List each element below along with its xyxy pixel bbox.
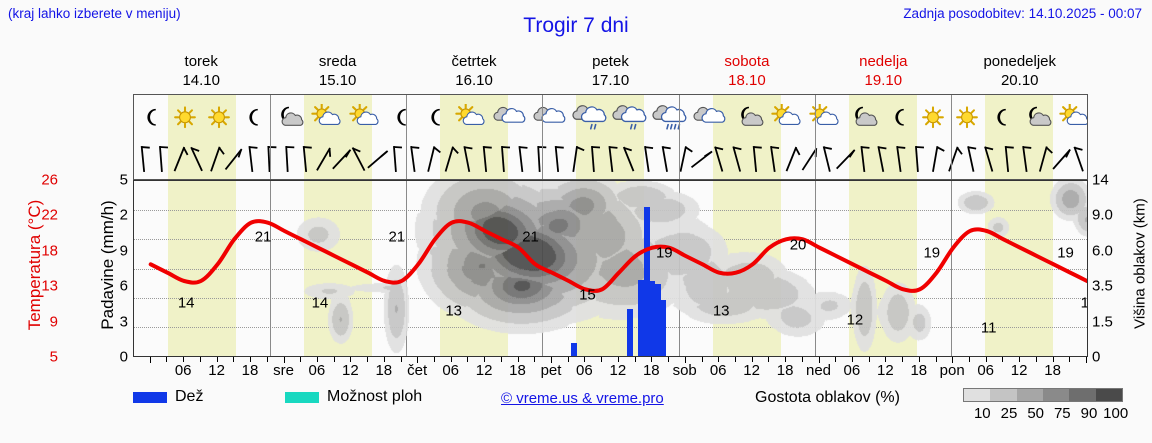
wind-barb-7: [260, 141, 278, 179]
cloud-ramp-step-1: [990, 389, 1016, 401]
temperature-trough-label-6: 11: [981, 320, 997, 337]
day-separator-1: [270, 95, 271, 179]
temperature-tick-5: 5: [22, 349, 58, 366]
x-axis-labels: 061218sre061218čet061218pet061218sob0612…: [133, 362, 1088, 382]
cloud-ramp-tick-5: 100: [1103, 405, 1128, 422]
x-label-7: čet: [407, 362, 427, 379]
wind-barb-13: [368, 141, 386, 179]
cloud-ramp-step-5: [1096, 389, 1122, 401]
rain-swatch: [133, 392, 167, 403]
forecast-plot: 212121192019191414131513121114: [133, 180, 1088, 357]
x-label-0: 06: [175, 362, 192, 379]
x-label-15: sob: [673, 362, 697, 379]
wind-barb-21: [512, 141, 530, 179]
moon-cloud-icon: [730, 96, 768, 142]
cloud_height-tick-3: 3.5: [1092, 278, 1128, 295]
last-update-text: Zadnja posodobitev: 14.10.2025 - 00:07: [903, 6, 1142, 21]
temperature-tick-2: 18: [22, 242, 58, 259]
precipitation-tick-4: 3: [92, 313, 128, 330]
cloud-ramp-tick-2: 50: [1027, 405, 1044, 422]
x-label-24: 06: [977, 362, 994, 379]
cloud-rain-light-icon: [570, 96, 610, 142]
legend-item-rain: Dež: [133, 388, 203, 406]
cloud-density-ramp-ticks: 1025507590100: [953, 405, 1143, 425]
cloud-rain-light-icon: [610, 96, 650, 142]
wind-barb-6: [242, 141, 260, 179]
temperature-trough-label-3: 15: [579, 286, 596, 303]
day-header-petek: petek17.10: [542, 52, 678, 92]
precipitation-tick-5: 0: [92, 349, 128, 366]
cloud-rain-heavy-icon: [650, 96, 690, 142]
day-date: 18.10: [679, 71, 815, 90]
temperature-trough-label-1: 14: [312, 295, 329, 312]
wind-barb-8: [278, 141, 296, 179]
moon-icon: [882, 96, 916, 142]
wind-barb-39: [836, 141, 854, 179]
x-label-16: 06: [710, 362, 727, 379]
day-date: 16.10: [406, 71, 542, 90]
cloud_height-tick-4: 1.5: [1092, 313, 1128, 330]
x-label-17: 12: [743, 362, 760, 379]
day-date: 17.10: [542, 71, 678, 90]
chart-legend: Dež Možnost ploh © vreme.us & vreme.pro …: [133, 386, 1143, 431]
moon-cloud-icon: [270, 96, 308, 142]
cloud-ramp-tick-0: 10: [974, 405, 991, 422]
x-label-13: 12: [610, 362, 627, 379]
legend-label-rain: Dež: [175, 388, 203, 406]
day-header-sreda: sreda15.10: [269, 52, 405, 92]
cloud_height-tick-2: 6.0: [1092, 242, 1128, 259]
day-header-torek: torek14.10: [133, 52, 269, 92]
x-label-9: 12: [476, 362, 493, 379]
cloud-icon: [530, 96, 570, 142]
temperature-peak-label-1: 21: [388, 228, 405, 245]
day-separator-2: [406, 95, 407, 179]
sun-cloud-icon: [768, 96, 806, 142]
cloud-ramp-step-4: [1069, 389, 1095, 401]
x-label-1: 12: [208, 362, 225, 379]
cloud-icon: [490, 96, 530, 142]
x-label-3: sre: [273, 362, 294, 379]
sun-icon: [950, 96, 984, 142]
wind-barb-3: [188, 141, 206, 179]
copyright-link[interactable]: © vreme.us & vreme.pro: [501, 390, 664, 407]
sun-cloud-icon: [806, 96, 844, 142]
sun-icon: [168, 96, 202, 142]
day-header-row: torek14.10sreda15.10četrtek16.10petek17.…: [133, 52, 1088, 92]
cloud_height-tick-1: 9.0: [1092, 207, 1128, 224]
wind-barb-33: [728, 141, 746, 179]
wind-barb-18: [458, 141, 476, 179]
temperature-peak-label-2: 21: [522, 228, 539, 245]
legend-item-showers: Možnost ploh: [285, 388, 422, 406]
cloud-height-axis-title: Višina oblakov (km): [1132, 174, 1149, 354]
sun-icon: [916, 96, 950, 142]
wind-barb-25: [584, 141, 602, 179]
wind-barb-19: [476, 141, 494, 179]
temperature-tick-1: 22: [22, 207, 58, 224]
precipitation-tick-2: 9: [92, 242, 128, 259]
x-label-8: 06: [442, 362, 459, 379]
x-label-22: 18: [910, 362, 927, 379]
temperature-peak-label-5: 19: [923, 245, 940, 262]
precipitation-tick-3: 6: [92, 278, 128, 295]
day-separator-3: [542, 95, 543, 179]
weather-symbol-panel: [133, 94, 1088, 180]
wind-barb-0: [134, 141, 152, 179]
wind-barb-22: [530, 141, 548, 179]
moon-icon: [134, 96, 168, 142]
sun-cloud-icon: [1056, 96, 1088, 142]
cloud-ramp-tick-1: 25: [1001, 405, 1018, 422]
cloud-ramp-tick-4: 90: [1081, 405, 1098, 422]
temperature-tick-3: 13: [22, 278, 58, 295]
wind-barb-35: [764, 141, 782, 179]
wind-barb-20: [494, 141, 512, 179]
cloud-ramp-tick-3: 75: [1054, 405, 1071, 422]
x-label-23: pon: [940, 362, 965, 379]
temperature-trough-label-5: 12: [847, 311, 864, 328]
temperature-value-labels: 212121192019191414131513121114: [134, 181, 1087, 356]
day-date: 20.10: [952, 71, 1088, 90]
sun-cloud-icon: [346, 96, 384, 142]
sun-icon: [202, 96, 236, 142]
wind-barb-44: [926, 141, 944, 179]
temperature-peak-label-0: 21: [255, 228, 272, 245]
wind-barb-row: [134, 141, 1087, 179]
day-separator-5: [815, 95, 816, 179]
day-name: nedelja: [815, 52, 951, 71]
x-label-5: 12: [342, 362, 359, 379]
x-label-11: pet: [541, 362, 562, 379]
moon-icon: [418, 96, 452, 142]
cloud-ramp-step-0: [964, 389, 990, 401]
x-label-20: 06: [844, 362, 861, 379]
day-name: četrtek: [406, 52, 542, 71]
x-label-4: 06: [309, 362, 326, 379]
cloud-ramp-step-3: [1043, 389, 1069, 401]
day-name: sreda: [269, 52, 405, 71]
legend-label-showers: Možnost ploh: [327, 388, 422, 406]
x-label-19: ned: [806, 362, 831, 379]
temperature-peak-label-6: 19: [1057, 245, 1074, 262]
day-header-ponedeljek: ponedeljek20.10: [952, 52, 1088, 92]
moon-icon: [984, 96, 1018, 142]
day-separator-6: [951, 95, 952, 179]
precipitation-tick-1: 2: [92, 207, 128, 224]
weather-icon-row: [134, 96, 1087, 142]
x-label-21: 12: [877, 362, 894, 379]
x-label-14: 18: [643, 362, 660, 379]
cloud_height-tick-5: 0: [1092, 349, 1128, 366]
day-date: 15.10: [269, 71, 405, 90]
precipitation-tick-0: 5: [92, 172, 128, 189]
x-label-18: 18: [777, 362, 794, 379]
moon-cloud-icon: [1018, 96, 1056, 142]
temperature-peak-label-3: 19: [656, 245, 673, 262]
moon-cloud-icon: [844, 96, 882, 142]
temperature-trough-label-2: 13: [445, 303, 462, 320]
day-separator-4: [679, 95, 680, 179]
x-label-26: 18: [1044, 362, 1061, 379]
temperature-tick-4: 9: [22, 313, 58, 330]
cloud-ramp-step-2: [1017, 389, 1043, 401]
wind-barb-42: [890, 141, 908, 179]
sun-cloud-icon: [452, 96, 490, 142]
cloud-icon: [690, 96, 730, 142]
day-date: 19.10: [815, 71, 951, 90]
showers-swatch: [285, 392, 319, 403]
x-label-6: 18: [375, 362, 392, 379]
day-name: petek: [542, 52, 678, 71]
temperature-tick-0: 26: [22, 172, 58, 189]
x-label-25: 12: [1011, 362, 1028, 379]
temperature-trough-label-4: 13: [713, 303, 730, 320]
day-name: ponedeljek: [952, 52, 1088, 71]
day-header-sobota: sobota18.10: [679, 52, 815, 92]
x-label-12: 06: [576, 362, 593, 379]
temperature-peak-label-4: 20: [790, 237, 807, 254]
day-date: 14.10: [133, 71, 269, 90]
cloud-density-ramp: [963, 388, 1123, 402]
wind-barb-1: [152, 141, 170, 179]
cloud_height-tick-0: 14: [1092, 172, 1128, 189]
day-header-četrtek: četrtek16.10: [406, 52, 542, 92]
day-header-nedelja: nedelja19.10: [815, 52, 951, 92]
day-name: torek: [133, 52, 269, 71]
day-name: sobota: [679, 52, 815, 71]
moon-icon: [384, 96, 418, 142]
x-label-2: 18: [242, 362, 259, 379]
moon-icon: [236, 96, 270, 142]
wind-barb-24: [566, 141, 584, 179]
temperature-trough-label-0: 14: [178, 295, 195, 312]
temperature-trough-label-7: 14: [1081, 295, 1088, 312]
sun-cloud-icon: [308, 96, 346, 142]
wind-barb-47: [980, 141, 998, 179]
x-label-10: 18: [509, 362, 526, 379]
cloud-density-legend-label: Gostota oblakov (%): [755, 389, 900, 407]
